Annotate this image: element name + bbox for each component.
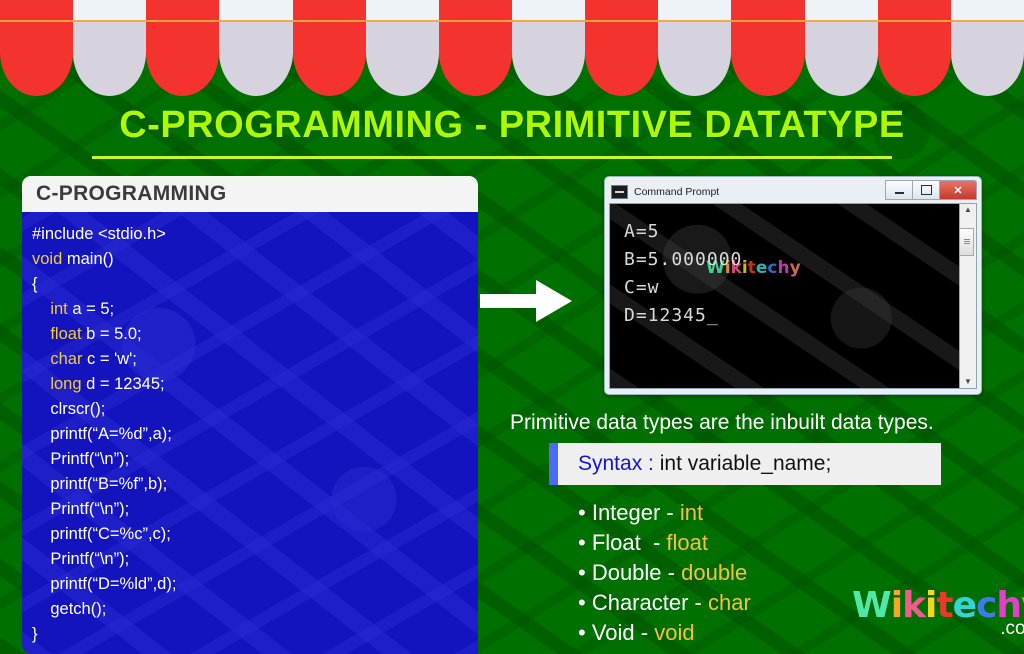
syntax-accent-bar <box>549 443 558 485</box>
bullet-dot-icon: • <box>578 560 592 585</box>
code-line: { <box>32 272 478 297</box>
wikitechy-logo: Wikitechy .com <box>852 588 1024 624</box>
syntax-box: Syntax : int variable_name; <box>549 443 941 485</box>
awning-scallop-gloss <box>512 0 585 20</box>
code-text: c = 'w'; <box>82 350 136 368</box>
arrow-right-icon <box>480 274 574 328</box>
code-line: Printf(“\n”); <box>32 447 478 472</box>
code-line: printf(“A=%d”,a); <box>32 422 478 447</box>
awning-scallop <box>439 0 512 96</box>
list-item: • Character - char <box>578 588 751 618</box>
awning-scallop <box>366 0 439 96</box>
list-item: • Void - void <box>578 618 751 648</box>
window-title: Command Prompt <box>634 186 719 198</box>
code-line: long d = 12345; <box>32 372 478 397</box>
logo-letter: t <box>936 585 952 626</box>
code-keyword: float <box>32 325 82 343</box>
window-controls[interactable]: ✕ <box>885 180 977 200</box>
bullet-type: double <box>681 560 747 585</box>
code-line: clrscr(); <box>32 397 478 422</box>
console-line: A=5 <box>624 218 959 246</box>
code-keyword: long <box>32 375 82 393</box>
awning-scallop-gloss <box>366 0 439 20</box>
awning-scallop <box>0 0 73 96</box>
bullet-dot-icon: • <box>578 530 592 555</box>
logo-letter: i <box>891 585 902 626</box>
window-titlebar[interactable]: Command Prompt ✕ <box>609 181 977 203</box>
list-item: • Double - double <box>578 558 751 588</box>
syntax-value: int variable_name; <box>660 452 832 475</box>
awning-scallop <box>512 0 585 96</box>
awning-decoration <box>0 0 1024 96</box>
logo-suffix: .com <box>1000 618 1024 640</box>
awning-scallop <box>951 0 1024 96</box>
close-button[interactable]: ✕ <box>939 180 977 200</box>
console-line: D=12345_ <box>624 302 959 330</box>
console-screen: A=5B=5.000000C=wD=12345_ Wikitechy ▲ ▼ <box>609 203 977 389</box>
code-card-body: #include <stdio.h>void main(){ int a = 5… <box>22 212 478 654</box>
awning-scallop <box>878 0 951 96</box>
bullet-label: Double - <box>592 560 681 585</box>
console-line: B=5.000000 <box>624 246 959 274</box>
datatype-list: • Integer - int• Float - float• Double -… <box>578 498 751 648</box>
code-line: #include <stdio.h> <box>32 222 478 247</box>
awning-scallop <box>585 0 658 96</box>
code-card: C-PROGRAMMING #include <stdio.h>void mai… <box>22 176 478 654</box>
scroll-down-icon[interactable]: ▼ <box>964 378 972 386</box>
bullet-label: Character - <box>592 590 708 615</box>
awning-stripe-line <box>0 20 1024 22</box>
awning-scallop <box>73 0 146 96</box>
awning-scallop <box>658 0 731 96</box>
code-keyword: char <box>32 350 82 368</box>
console-icon <box>611 185 628 199</box>
syntax-text: Syntax : int variable_name; <box>558 452 831 476</box>
bullet-dot-icon: • <box>578 590 592 615</box>
console-scrollbar[interactable]: ▲ ▼ <box>959 204 976 388</box>
console-line: C=w <box>624 274 959 302</box>
awning-scallop <box>146 0 219 96</box>
bullet-label: Void - <box>592 620 654 645</box>
list-item: • Float - float <box>578 528 751 558</box>
minimize-button[interactable] <box>885 180 912 200</box>
code-line: Printf(“\n”); <box>32 497 478 522</box>
logo-letter: W <box>852 585 891 626</box>
code-line: char c = 'w'; <box>32 347 478 372</box>
logo-letter: k <box>902 585 925 626</box>
maximize-button[interactable] <box>912 180 939 200</box>
code-line: printf(“C=%c”,c); <box>32 522 478 547</box>
code-text: d = 12345; <box>82 375 165 393</box>
bullet-type: int <box>680 500 703 525</box>
code-text: a = 5; <box>68 300 114 318</box>
list-item: • Integer - int <box>578 498 751 528</box>
code-keyword: int <box>32 300 68 318</box>
page-title: C-PROGRAMMING - PRIMITIVE DATATYPE <box>0 104 1024 147</box>
code-text: b = 5.0; <box>82 325 142 343</box>
bullet-type: char <box>708 590 751 615</box>
awning-scallops <box>0 0 1024 96</box>
awning-scallop-gloss <box>805 0 878 20</box>
awning-scallop <box>293 0 366 96</box>
code-line: } <box>32 622 478 647</box>
code-card-header: C-PROGRAMMING <box>22 176 478 212</box>
title-underline <box>92 156 892 159</box>
logo-letter: i <box>925 585 936 626</box>
bullet-type: float <box>666 530 708 555</box>
code-line: float b = 5.0; <box>32 322 478 347</box>
code-text: main() <box>62 250 113 268</box>
bullet-dot-icon: • <box>578 620 592 645</box>
logo-letter: e <box>953 585 976 626</box>
code-block: #include <stdio.h>void main(){ int a = 5… <box>32 222 478 647</box>
bullet-label: Float - <box>592 530 667 555</box>
bullet-type: void <box>654 620 694 645</box>
scroll-up-icon[interactable]: ▲ <box>964 206 972 214</box>
awning-scallop <box>731 0 804 96</box>
bullet-dot-icon: • <box>578 500 592 525</box>
code-line: printf(“D=%ld”,d); <box>32 572 478 597</box>
logo-letter: c <box>976 585 996 626</box>
awning-scallop <box>219 0 292 96</box>
awning-scallop-gloss <box>951 0 1024 20</box>
logo-letters: Wikitechy <box>852 588 1024 624</box>
awning-scallop <box>805 0 878 96</box>
code-line: int a = 5; <box>32 297 478 322</box>
code-line: getch(); <box>32 597 478 622</box>
awning-scallop-gloss <box>658 0 731 20</box>
code-line: Printf(“\n”); <box>32 547 478 572</box>
code-keyword: void <box>32 250 62 268</box>
command-prompt-window[interactable]: Command Prompt ✕ A=5B=5.000000C=wD=12345… <box>604 176 982 395</box>
console-output: A=5B=5.000000C=wD=12345_ Wikitechy <box>610 204 959 388</box>
syntax-label: Syntax : <box>578 452 654 475</box>
scrollbar-thumb[interactable] <box>959 228 974 256</box>
lead-description: Primitive data types are the inbuilt dat… <box>510 410 1015 436</box>
awning-scallop-gloss <box>219 0 292 20</box>
code-line: printf(“B=%f”,b); <box>32 472 478 497</box>
bullet-label: Integer - <box>592 500 680 525</box>
awning-scallop-gloss <box>73 0 146 20</box>
code-line: void main() <box>32 247 478 272</box>
